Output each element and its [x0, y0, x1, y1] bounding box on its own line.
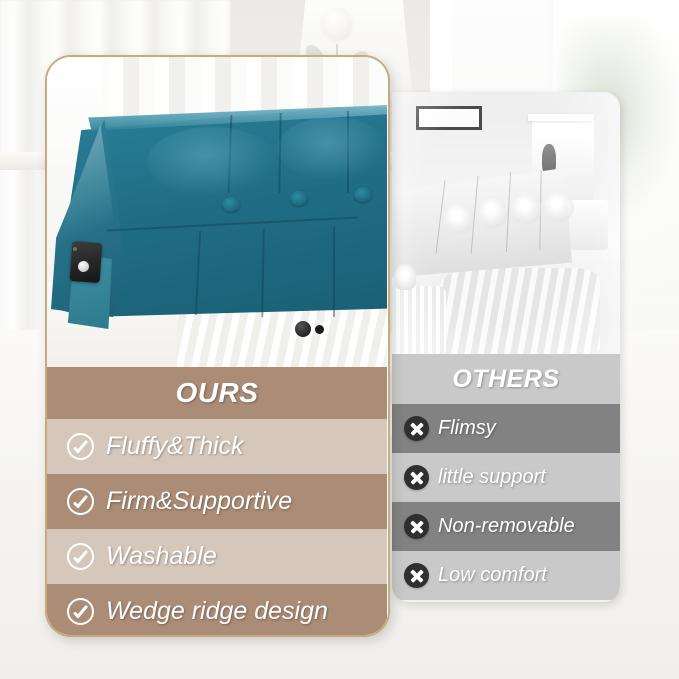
others-feature-row: Flimsy [392, 404, 620, 453]
ours-feature-list: OURS Fluffy&Thick Firm&Supportive Washab… [47, 367, 387, 637]
ours-feature-label: Washable [106, 542, 217, 571]
flower-bloom [322, 8, 352, 40]
ours-pillow-tuft [354, 187, 372, 202]
check-circle-icon [67, 488, 94, 515]
ours-comparison-card: OURS Fluffy&Thick Firm&Supportive Washab… [45, 55, 390, 637]
ours-feature-label: Firm&Supportive [106, 487, 292, 516]
bed-knob [315, 325, 324, 334]
ours-pillow-tuft [290, 191, 308, 206]
ours-feature-row: Washable [47, 529, 387, 584]
x-circle-icon [404, 465, 429, 490]
others-header-label: OTHERS [452, 365, 559, 394]
others-photo-vignette [392, 92, 620, 354]
x-circle-icon [404, 416, 429, 441]
others-product-photo [392, 92, 620, 354]
x-circle-icon [404, 563, 429, 588]
phone-speaker-dot [73, 247, 77, 251]
others-feature-row: little support [392, 453, 620, 502]
others-comparison-panel: OTHERS Flimsy little support Non-removab… [392, 92, 620, 602]
check-circle-icon [67, 543, 94, 570]
ours-pillow-seam [333, 227, 335, 317]
others-feature-label: Low comfort [438, 564, 547, 587]
others-header-row: OTHERS [392, 354, 620, 404]
ours-feature-label: Fluffy&Thick [106, 432, 244, 461]
ours-pillow-tuft [222, 197, 240, 212]
ours-pillow-highlight [147, 127, 277, 197]
ours-pillow-highlight [277, 117, 387, 181]
others-feature-row: Low comfort [392, 551, 620, 600]
check-circle-icon [67, 433, 94, 460]
ours-feature-label: Wedge ridge design [106, 597, 328, 626]
check-circle-icon [67, 598, 94, 625]
bed-knob [295, 321, 311, 337]
others-feature-label: Flimsy [438, 417, 496, 440]
ours-feature-row: Wedge ridge design [47, 584, 387, 637]
ours-header-row: OURS [47, 367, 387, 419]
others-feature-list: OTHERS Flimsy little support Non-removab… [392, 354, 620, 600]
others-feature-label: little support [438, 466, 546, 489]
ours-product-photo [47, 57, 387, 367]
ours-header-label: OURS [176, 377, 259, 409]
x-circle-icon [404, 514, 429, 539]
others-feature-row: Non-removable [392, 502, 620, 551]
others-feature-label: Non-removable [438, 515, 575, 538]
ours-feature-row: Fluffy&Thick [47, 419, 387, 474]
ours-feature-row: Firm&Supportive [47, 474, 387, 529]
